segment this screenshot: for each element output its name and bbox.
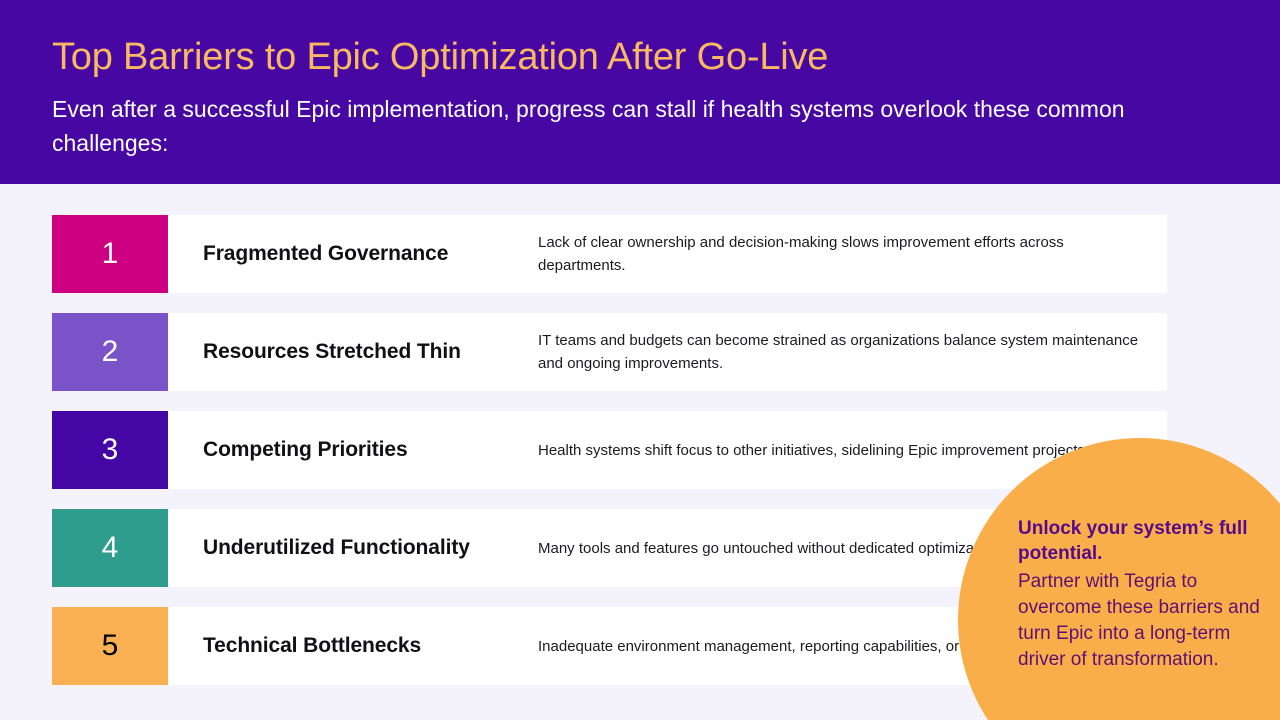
barrier-title: Underutilized Functionality <box>203 536 538 560</box>
barrier-number: 1 <box>102 239 119 269</box>
barrier-title: Resources Stretched Thin <box>203 340 538 364</box>
slide-canvas: Top Barriers to Epic Optimization After … <box>0 0 1280 720</box>
barrier-number-badge: 3 <box>52 411 168 489</box>
barrier-title: Technical Bottlenecks <box>203 634 538 658</box>
barrier-number-badge: 1 <box>52 215 168 293</box>
barrier-description: Lack of clear ownership and decision-mak… <box>538 231 1167 277</box>
list-item: 3 Competing Priorities Health systems sh… <box>52 411 1167 489</box>
page-title: Top Barriers to Epic Optimization After … <box>52 36 828 79</box>
barrier-description: IT teams and budgets can become strained… <box>538 329 1167 375</box>
barrier-card: Fragmented Governance Lack of clear owne… <box>168 215 1167 293</box>
barrier-number: 5 <box>102 631 119 661</box>
barrier-number-badge: 5 <box>52 607 168 685</box>
callout-content: Unlock your system’s full potential. Par… <box>1018 516 1270 673</box>
page-subtitle: Even after a successful Epic implementat… <box>52 92 1192 160</box>
barrier-number: 4 <box>102 533 119 563</box>
barrier-number-badge: 4 <box>52 509 168 587</box>
barrier-title: Competing Priorities <box>203 438 538 462</box>
callout-heading: Unlock your system’s full potential. <box>1018 516 1270 566</box>
callout-body: Partner with Tegria to overcome these ba… <box>1018 569 1270 673</box>
barrier-number: 2 <box>102 337 119 367</box>
barrier-number: 3 <box>102 435 119 465</box>
barrier-card: Resources Stretched Thin IT teams and bu… <box>168 313 1167 391</box>
list-item: 2 Resources Stretched Thin IT teams and … <box>52 313 1167 391</box>
barrier-number-badge: 2 <box>52 313 168 391</box>
header-banner: Top Barriers to Epic Optimization After … <box>0 0 1280 184</box>
barrier-card: Competing Priorities Health systems shif… <box>168 411 1167 489</box>
barrier-title: Fragmented Governance <box>203 242 538 266</box>
list-item: 1 Fragmented Governance Lack of clear ow… <box>52 215 1167 293</box>
